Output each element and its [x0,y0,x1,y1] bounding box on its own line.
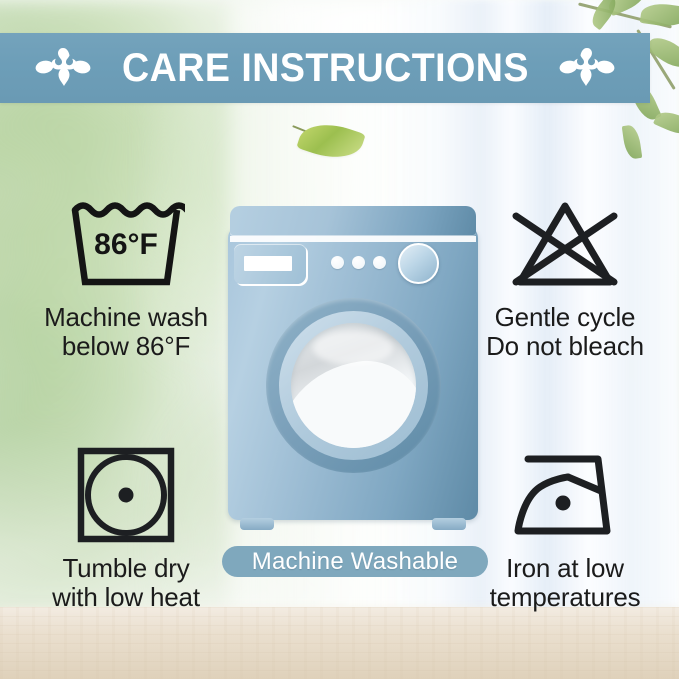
page-title: CARE INSTRUCTIONS [122,48,529,88]
caption-line-1: Machine wash [44,302,208,332]
badge-label: Machine Washable [252,550,458,574]
care-symbol-caption: Machine wash below 86°F [44,303,208,360]
iron-low-icon [506,447,624,548]
detergent-drawer [234,244,306,284]
caption-line-1: Tumble dry [62,553,189,583]
control-dot-3 [373,256,386,269]
control-dot-1 [331,256,344,269]
caption-line-1: Gentle cycle [495,302,636,332]
machine-washable-badge: Machine Washable [222,546,488,577]
caption-line-1: Iron at low [506,553,624,583]
fleur-de-lis-icon-right [559,44,615,92]
wash-temperature-label: 86°F [94,228,158,261]
detergent-drawer-slot [244,256,292,271]
care-symbol-do-not-bleach: Gentle cycle Do not bleach [455,196,675,360]
tumble-dry-low-icon [67,447,185,548]
care-symbol-caption: Tumble dry with low heat [52,554,200,611]
header-banner: CARE INSTRUCTIONS [0,33,650,103]
care-symbol-caption: Gentle cycle Do not bleach [486,303,644,360]
dial-knob [398,243,439,284]
caption-line-2: Do not bleach [486,332,644,361]
fleur-de-lis-icon-left [35,44,91,92]
wash-tub-icon: 86°F [67,196,185,297]
wood-grain-texture [0,607,679,679]
washer-foot-right [432,518,466,530]
washer-top-lid [230,206,476,236]
care-symbol-caption: Iron at low temperatures [490,554,641,611]
control-dot-2 [352,256,365,269]
care-symbol-iron-low: Iron at low temperatures [455,447,675,611]
triangle-crossed-icon [506,196,624,297]
caption-line-2: with low heat [52,583,200,612]
door-glass-swoosh [291,353,416,448]
care-symbol-tumble-dry: Tumble dry with low heat [16,447,236,611]
washing-machine-illustration [228,206,478,534]
caption-line-2: temperatures [490,583,641,612]
care-symbol-machine-wash: 86°F Machine wash below 86°F [16,196,236,360]
washer-foot-left [240,518,274,530]
door-glass-highlight [313,331,393,365]
caption-line-2: below 86°F [44,332,208,361]
door-glass [291,323,416,448]
care-instructions-graphic: CARE INSTRUCTIONS 86°F Machine wash belo… [0,0,679,679]
washer-panel-divider [230,236,476,242]
